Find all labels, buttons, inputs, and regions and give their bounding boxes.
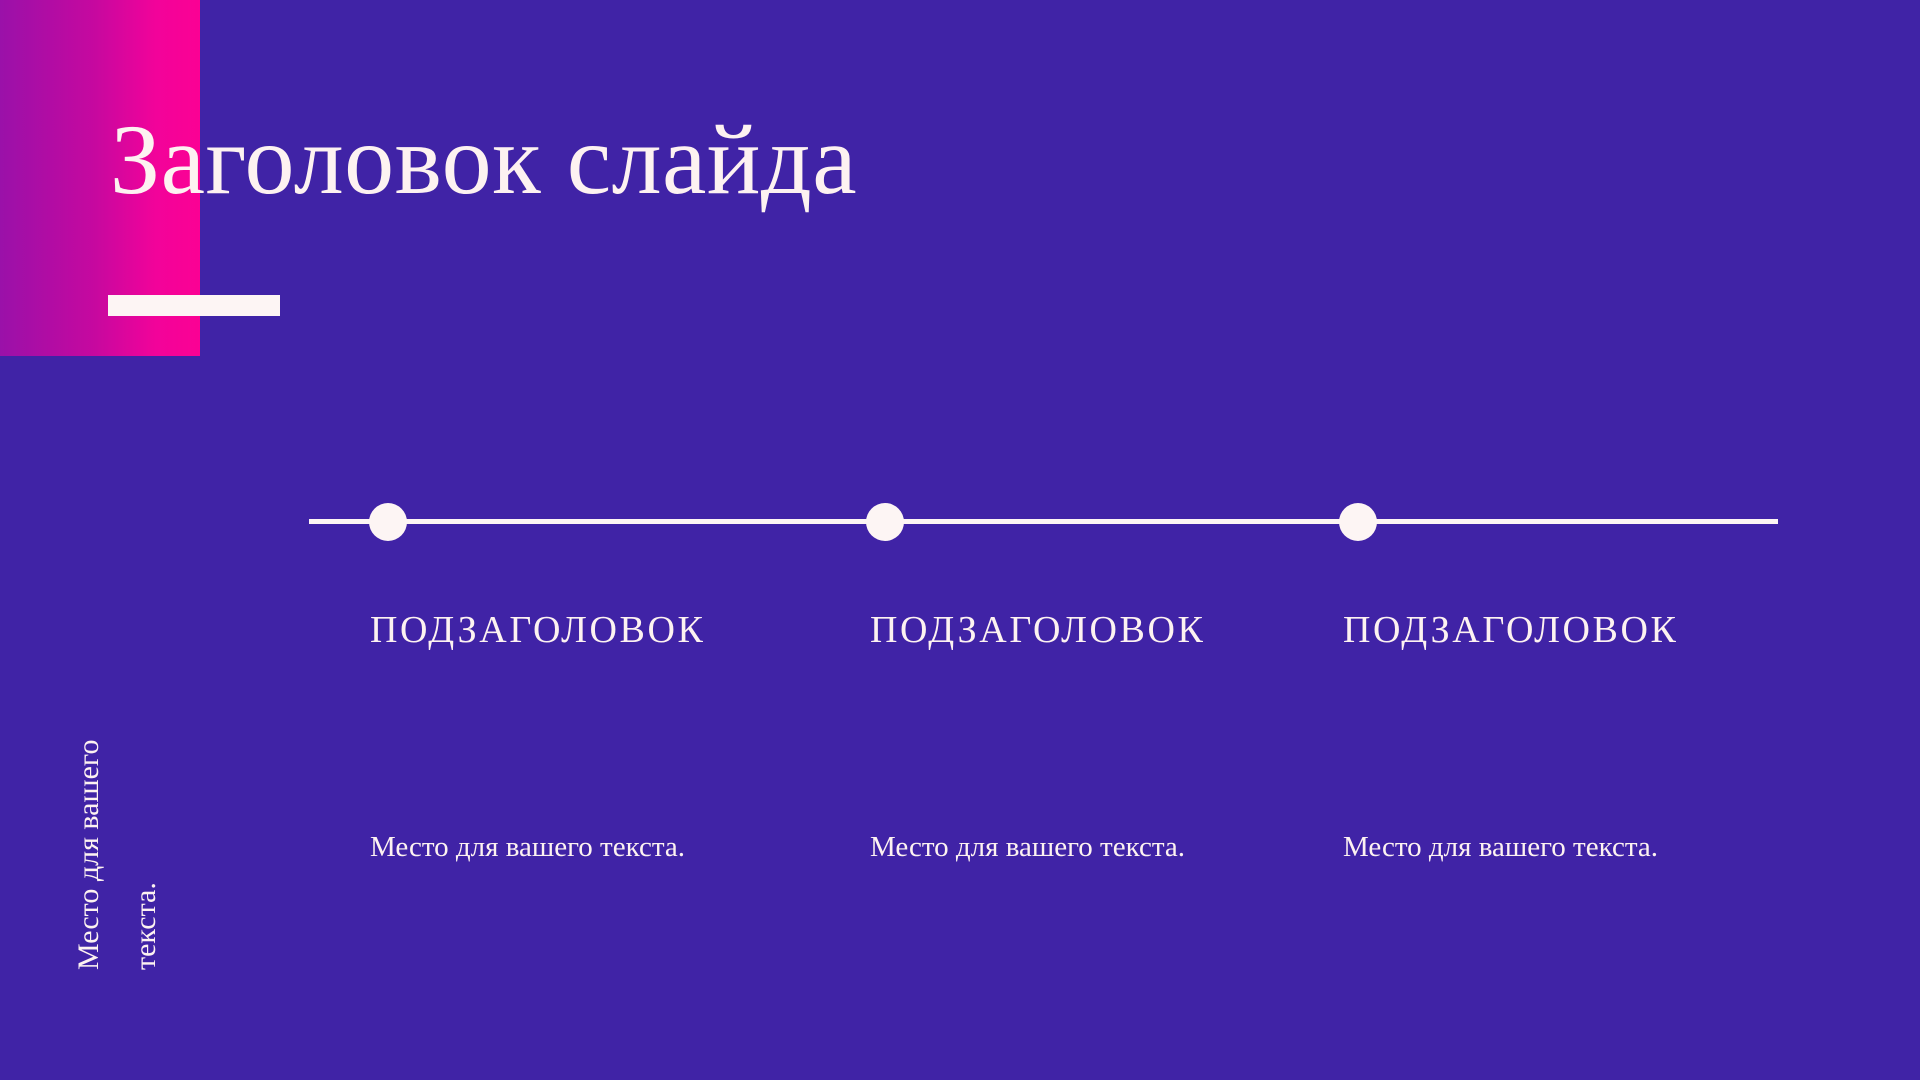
- timeline-column-2: ПОДЗАГОЛОВОК Место для вашего текста.: [870, 608, 1300, 653]
- side-text-line-2: текста.: [117, 565, 174, 970]
- timeline-axis-line: [309, 519, 1778, 524]
- side-vertical-text: Место для вашего текста.: [60, 565, 180, 970]
- title-underline-rule: [108, 295, 280, 316]
- column-subtitle: ПОДЗАГОЛОВОК: [370, 608, 800, 653]
- timeline-column-3: ПОДЗАГОЛОВОК Место для вашего текста.: [1343, 608, 1773, 653]
- column-subtitle: ПОДЗАГОЛОВОК: [870, 608, 1300, 653]
- column-body-text: Место для вашего текста.: [870, 821, 1200, 873]
- timeline-dot-1: [369, 503, 407, 541]
- column-body-text: Место для вашего текста.: [1343, 821, 1673, 873]
- column-body-text: Место для вашего текста.: [370, 821, 700, 873]
- side-text-line-1: Место для вашего: [60, 565, 117, 970]
- timeline-dot-2: [866, 503, 904, 541]
- timeline-dot-3: [1339, 503, 1377, 541]
- presentation-slide: Заголовок слайда Место для вашего текста…: [0, 0, 1920, 1080]
- page-title: Заголовок слайда: [110, 104, 857, 216]
- column-subtitle: ПОДЗАГОЛОВОК: [1343, 608, 1773, 653]
- timeline-column-1: ПОДЗАГОЛОВОК Место для вашего текста.: [370, 608, 800, 653]
- timeline: [309, 519, 1778, 525]
